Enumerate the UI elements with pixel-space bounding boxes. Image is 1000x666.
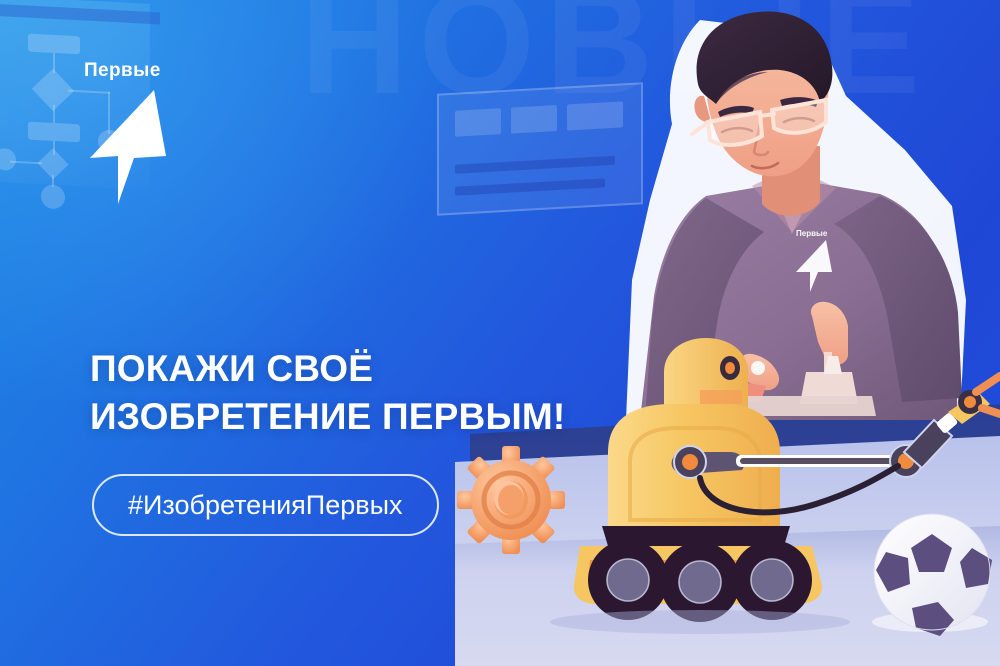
headline-line-1: ПОКАЖИ СВОЁ bbox=[90, 345, 565, 393]
gear-icon bbox=[455, 445, 567, 555]
headline-line-2: ИЗОБРЕТЕНИЕ ПЕРВЫМ! bbox=[90, 393, 565, 441]
flow-node bbox=[0, 148, 16, 171]
hashtag-label: #ИзобретенияПервых bbox=[128, 490, 403, 521]
page-title: ПОКАЖИ СВОЁ ИЗОБРЕТЕНИЕ ПЕРВЫМ! bbox=[90, 345, 565, 441]
brand-logo[interactable]: Первые bbox=[84, 60, 170, 206]
presentation-board bbox=[437, 82, 643, 216]
character-head bbox=[692, 12, 832, 216]
brand-wordmark: Первые bbox=[84, 60, 170, 82]
safety-glasses-icon bbox=[692, 100, 826, 145]
character-body bbox=[640, 176, 962, 420]
character-hands bbox=[740, 302, 858, 404]
board-block bbox=[455, 108, 501, 137]
screen-title-bar bbox=[0, 4, 160, 24]
board-block bbox=[455, 178, 605, 195]
board-block bbox=[511, 105, 557, 134]
flow-node bbox=[41, 184, 65, 209]
svg-text:Первые: Первые bbox=[796, 229, 828, 238]
flow-node bbox=[28, 122, 80, 143]
hashtag-pill[interactable]: #ИзобретенияПервых bbox=[92, 474, 439, 536]
coat-logo-badge: Первые bbox=[796, 229, 832, 292]
flow-connector bbox=[53, 105, 55, 123]
board-block bbox=[567, 101, 623, 130]
figure-outline bbox=[626, 20, 966, 420]
flow-node bbox=[28, 34, 80, 55]
poster-root: НОВЫЕ bbox=[0, 0, 1000, 666]
board-block bbox=[455, 156, 615, 174]
arrow-one-mark bbox=[84, 86, 170, 206]
